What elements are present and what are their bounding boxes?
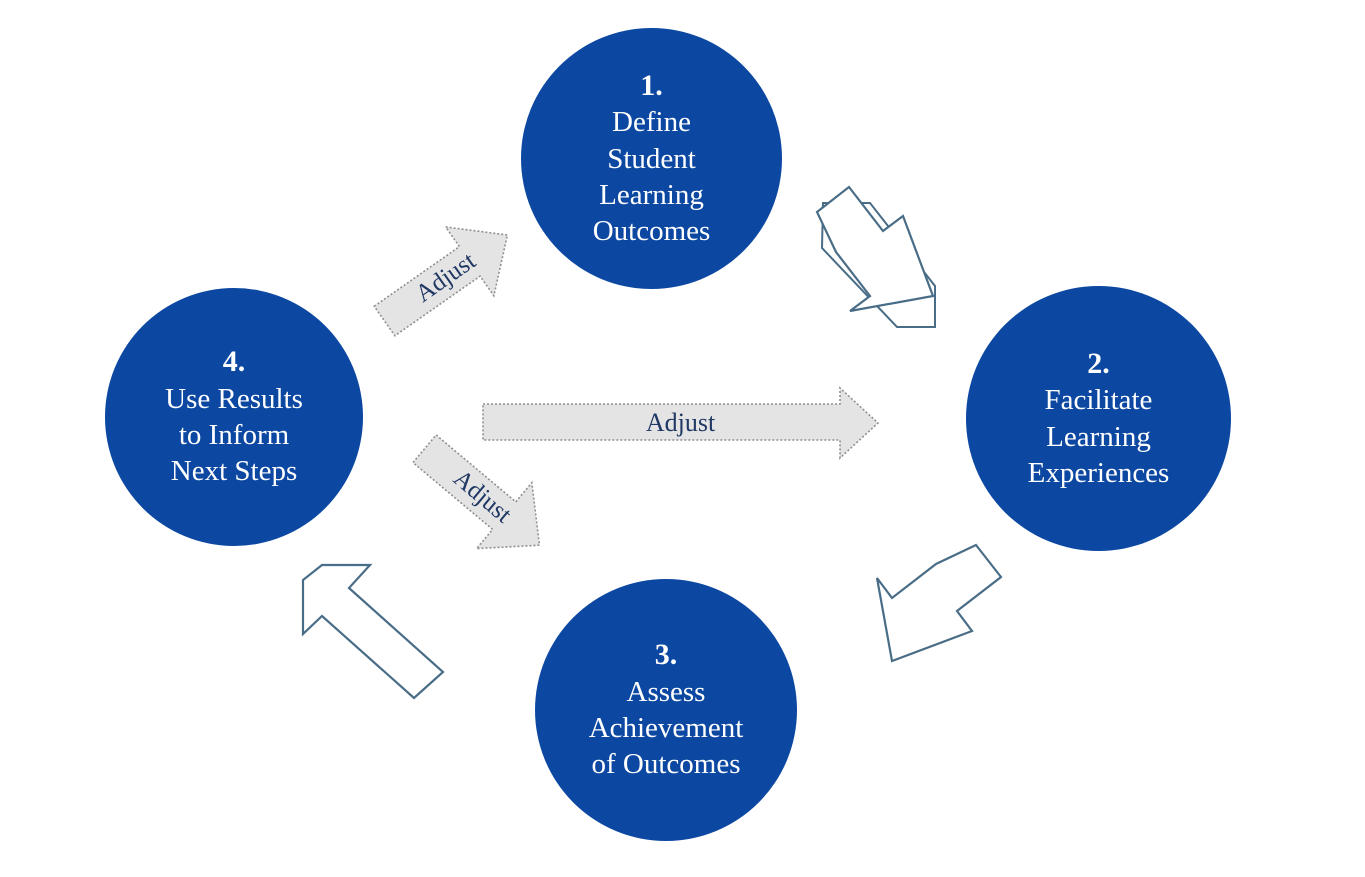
node-3-number: 3. <box>655 637 678 674</box>
node-2-label: Facilitate Learning Experiences <box>1018 382 1180 491</box>
node-circle-3[interactable]: 3. Assess Achievement of Outcomes <box>535 579 797 841</box>
node-circle-4[interactable]: 4. Use Results to Inform Next Steps <box>105 288 363 546</box>
flow-arrow-2-to-3 <box>877 545 1001 661</box>
flow-arrow-1-to-2 <box>817 187 935 327</box>
node-circle-2[interactable]: 2. Facilitate Learning Experiences <box>966 286 1231 551</box>
node-1-label: Define Student Learning Outcomes <box>583 104 721 249</box>
node-circle-1[interactable]: 1. Define Student Learning Outcomes <box>521 28 782 289</box>
node-4-number: 4. <box>223 344 246 381</box>
node-4-label: Use Results to Inform Next Steps <box>155 381 313 490</box>
node-1-number: 1. <box>640 68 663 105</box>
diagram-canvas: 1. Define Student Learning Outcomes 2. F… <box>0 0 1365 877</box>
adjust-arrow-to-node-2[interactable]: Adjust <box>483 388 878 458</box>
node-2-number: 2. <box>1087 346 1110 383</box>
node-3-label: Assess Achievement of Outcomes <box>579 674 754 783</box>
flow-arrow-3-to-4 <box>303 565 444 700</box>
